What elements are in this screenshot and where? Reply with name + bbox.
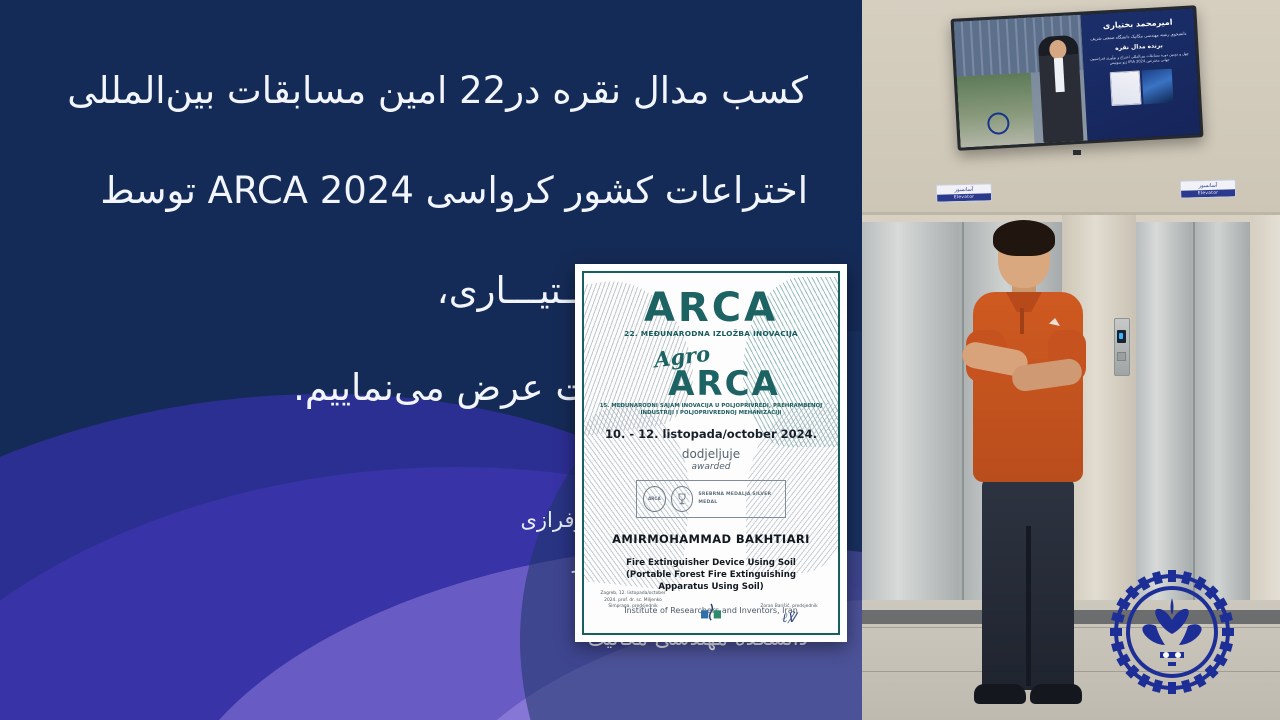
medal-badge-box: ARCA SREBRNA MEDALJA SILVER MEDAL bbox=[636, 480, 786, 518]
wall-mounted-tv: امیرمحمد بختیاری دانشجوی رشته مهندسی مکا… bbox=[951, 5, 1204, 151]
headline-line-1: کسب مدال نقره در22 امین مسابقات بین‌المل… bbox=[52, 72, 808, 109]
sharif-university-logo-icon bbox=[1108, 568, 1236, 696]
headline-line-2: اختراعات کشور کرواسی ARCA 2024 توسط bbox=[52, 172, 808, 209]
tv-mount bbox=[1073, 150, 1081, 155]
arca-seal-icon: ARCA bbox=[643, 486, 666, 512]
person-shoe-left bbox=[974, 684, 1026, 704]
certificate-signature-row: Zoran Barišić, predsjednik ℣ℓ Zagreb, 12… bbox=[584, 591, 838, 625]
agro-arca-wordmark: ARCA bbox=[624, 368, 824, 400]
trophy-seal-icon bbox=[671, 486, 694, 512]
tv-person-figure bbox=[1038, 35, 1084, 143]
person-placket bbox=[1020, 308, 1024, 334]
elevator-display-icon bbox=[1117, 330, 1126, 343]
signature-right: Zagreb, 12. listopada/october 2024. prof… bbox=[596, 591, 670, 625]
invention-title: Fire Extinguisher Device Using Soil (Por… bbox=[598, 557, 824, 594]
agro-arca-subtitle: 15. MEĐUNARODNI SAJAM INOVACIJA U POLJOP… bbox=[598, 403, 824, 417]
tv-photo-panel bbox=[954, 15, 1088, 148]
medal-label: SREBRNA MEDALJA SILVER MEDAL bbox=[698, 491, 779, 506]
person-photo bbox=[954, 226, 1104, 706]
arca-certificate: ARCA 22. MEĐUNARODNA IZLOŽBA INOVACIJA A… bbox=[575, 264, 847, 642]
tv-certificate-thumbnail bbox=[1109, 70, 1141, 106]
certificate-dates: 10. - 12. listopada/october 2024. bbox=[598, 427, 824, 441]
awarded-label-en: awarded bbox=[598, 462, 824, 472]
elevator-sign-left: آسانسور Elevator bbox=[936, 183, 992, 202]
person-shoe-right bbox=[1030, 684, 1082, 704]
signature-left-scribble: ℣ℓ bbox=[752, 612, 826, 625]
person-hair bbox=[993, 220, 1055, 256]
arca-wordmark-subtitle: 22. MEĐUNARODNA IZLOŽBA INOVACIJA bbox=[598, 329, 824, 338]
invention-line-2: (Portable Forest Fire Extinguishing bbox=[598, 569, 824, 581]
signature-left: Zoran Barišić, predsjednik ℣ℓ bbox=[752, 604, 826, 625]
elevator-call-button[interactable] bbox=[1117, 352, 1126, 361]
signature-right-name: prof. dr. sc. Miljenko Šimpraga, predsje… bbox=[608, 598, 662, 610]
elevator-call-panel[interactable] bbox=[1114, 318, 1130, 376]
arca-wordmark: ARCA bbox=[598, 289, 824, 327]
tv-student-name: امیرمحمد بختیاری bbox=[1087, 18, 1188, 32]
tv-event-text: چهل و دومین دوره مسابقات بین‌المللی اختر… bbox=[1089, 52, 1190, 68]
signature-left-name: Zoran Barišić, predsjednik bbox=[760, 604, 817, 609]
invention-line-1: Fire Extinguisher Device Using Soil bbox=[598, 557, 824, 569]
certificate-content: ARCA 22. MEĐUNARODNA IZLOŽBA INOVACIJA A… bbox=[584, 273, 838, 623]
tv-campus-photo bbox=[957, 73, 1035, 148]
elevator-sign-right: آسانسور Elevator bbox=[1180, 179, 1236, 198]
tv-student-role: دانشجوی رشته مهندسی مکانیک دانشگاه صنعتی… bbox=[1088, 30, 1189, 41]
tv-slide-text-panel: امیرمحمد بختیاری دانشجوی رشته مهندسی مکا… bbox=[1081, 8, 1201, 140]
certificate-recipient-name: AMIRMOHAMMAD BAKHTIARI bbox=[598, 532, 824, 546]
elevator-sign-right-en: Elevator bbox=[1181, 189, 1235, 197]
person-leg-split bbox=[1026, 526, 1031, 686]
elevator-sign-left-en: Elevator bbox=[937, 193, 991, 201]
tv-poster-thumbnail bbox=[1141, 68, 1173, 104]
awarded-label-hr: dodjeljuje bbox=[598, 447, 824, 461]
certificate-frame: ARCA 22. MEĐUNARODNA IZLOŽBA INOVACIJA A… bbox=[582, 271, 840, 635]
association-emblem-icon bbox=[700, 603, 722, 623]
slide-canvas: کسب مدال نقره در22 امین مسابقات بین‌المل… bbox=[0, 0, 1280, 720]
tv-thumbnails bbox=[1090, 67, 1193, 107]
signature-right-scribble: 𝓁𝒼𝒶 bbox=[596, 612, 670, 625]
